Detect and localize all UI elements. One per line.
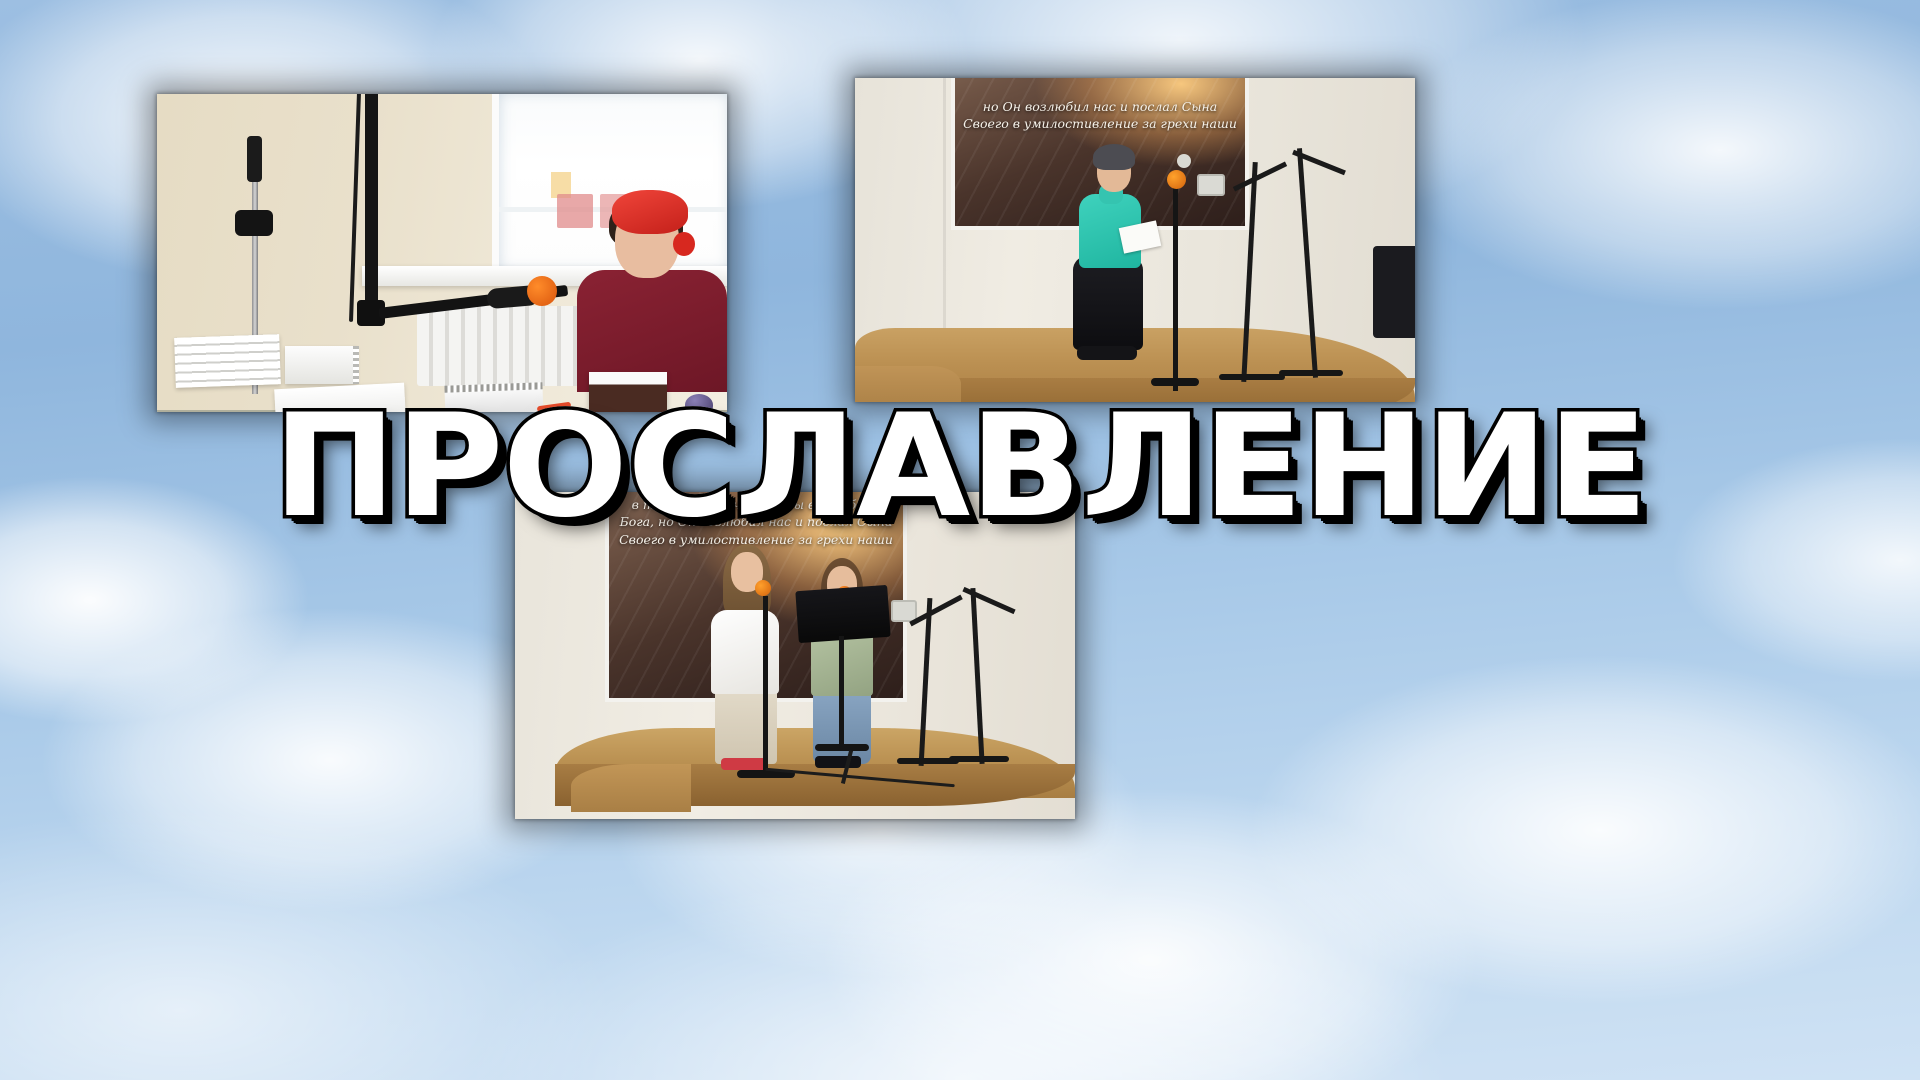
podium [1373, 246, 1415, 338]
wall-sensor [1177, 154, 1191, 168]
scripture-banner-text: но Он возлюбил нас и послал Сына Своего … [955, 94, 1245, 137]
singer-two-shoes [815, 756, 861, 768]
microphone-head-orange [1167, 170, 1186, 189]
stack-of-books [174, 334, 281, 388]
music-stand-pole [839, 636, 844, 748]
microphone-stand-pole [763, 596, 768, 778]
microphone-stand-pole [1173, 186, 1178, 391]
photo-content-top-right: но Он возлюбил нас и послал Сына Своего … [855, 78, 1415, 402]
page-title: ПРОСЛАВЛЕНИЕ [0, 396, 1920, 538]
person-black-skirt [1073, 256, 1143, 350]
singer-one-microphone [755, 580, 771, 596]
page-title-text: ПРОСЛАВЛЕНИЕ [273, 384, 1647, 549]
stage-step [571, 764, 691, 812]
person-shoes [1077, 346, 1137, 360]
music-stand-base [815, 744, 869, 751]
window-view-red-building-left [557, 194, 593, 228]
person-red-headscarf [612, 190, 688, 234]
photo-content-top-left [157, 94, 727, 412]
singer-one-red-shoes [721, 758, 767, 770]
mic-stand-third-legs [949, 756, 1009, 762]
spiral-notebook-left [285, 346, 357, 384]
person-grey-hat [1093, 144, 1135, 170]
mic-stand-top-left [247, 136, 262, 182]
wall-socket [1197, 174, 1225, 196]
mic-stand-clamp-left [235, 210, 273, 236]
photo-panel-woman-reading-at-table [157, 94, 727, 412]
person-headscarf-knot [673, 232, 695, 256]
singer-one-white-blouse [711, 610, 779, 694]
mic-stand-third-legs [1279, 370, 1343, 376]
music-stand-desk [795, 585, 890, 643]
mic-stand-second-legs [1219, 374, 1285, 380]
photo-panel-woman-speaking-at-microphone: но Он возлюбил нас и послал Сына Своего … [855, 78, 1415, 402]
boom-arm-vertical [365, 94, 378, 308]
microphone-head-orange [527, 276, 557, 306]
